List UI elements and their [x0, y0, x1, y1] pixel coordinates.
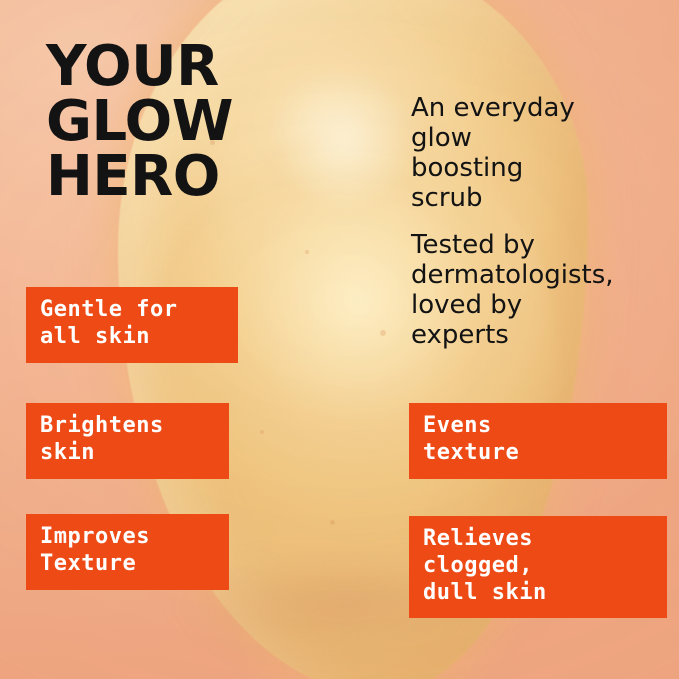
benefit-tag-improves: Improves Texture — [26, 514, 229, 590]
description-paragraph-1: An everyday glow boosting scrub — [411, 93, 575, 214]
benefit-tag-relieves: Relieves clogged, dull skin — [409, 516, 667, 618]
page-title: YOUR GLOW HERO — [46, 40, 233, 205]
benefit-tag-brightens: Brightens skin — [26, 403, 229, 479]
benefit-tag-gentle: Gentle for all skin — [26, 287, 238, 363]
description-paragraph-2: Tested by dermatologists, loved by exper… — [411, 230, 614, 351]
benefit-tag-evens: Evens texture — [409, 403, 667, 479]
marketing-banner: YOUR GLOW HERO An everyday glow boosting… — [0, 0, 679, 679]
